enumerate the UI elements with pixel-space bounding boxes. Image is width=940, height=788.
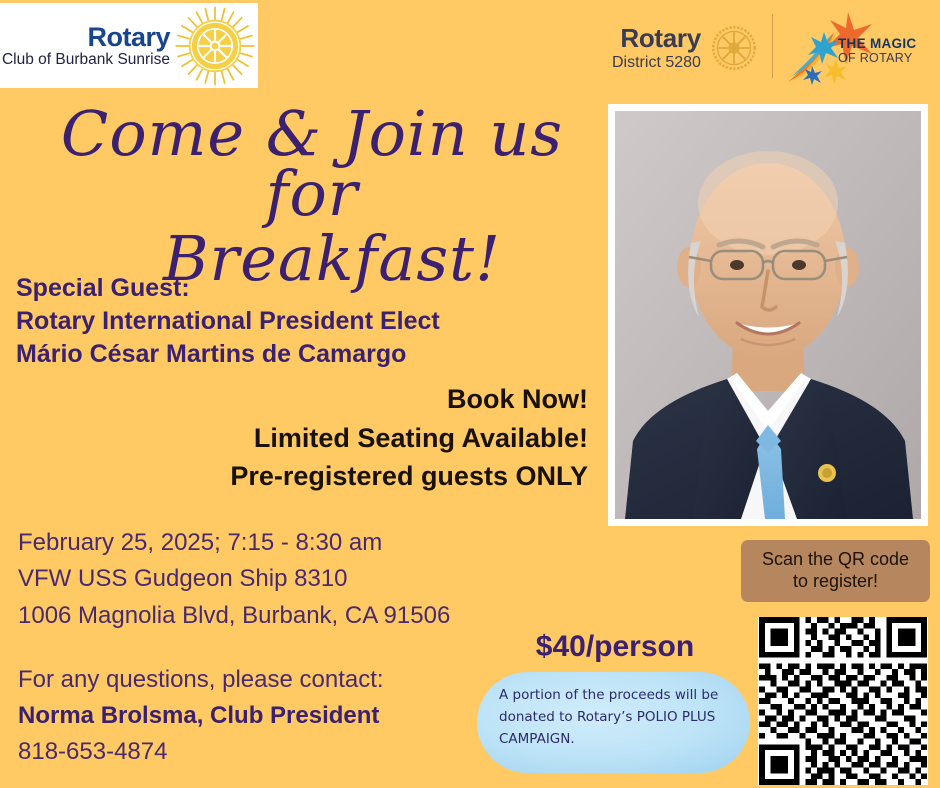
- special-guest-label: Special Guest:: [16, 272, 440, 305]
- contact-block: For any questions, please contact: Norma…: [18, 662, 384, 770]
- rotary-wheel-icon: [174, 5, 256, 87]
- district-number-label: District 5280: [612, 54, 701, 72]
- special-guest-title: Rotary International President Elect: [16, 305, 440, 338]
- cta-pre-registered: Pre-registered guests ONLY: [180, 457, 588, 496]
- cta-limited-seating: Limited Seating Available!: [180, 419, 588, 458]
- club-brand-label: Rotary: [2, 23, 170, 51]
- contact-person: Norma Brolsma, Club President: [18, 698, 384, 734]
- district-brand-label: Rotary: [612, 24, 701, 53]
- scan-badge-line2: to register!: [762, 571, 909, 593]
- magic-line1: THE MAGIC: [838, 37, 916, 52]
- call-to-action-block: Book Now! Limited Seating Available! Pre…: [180, 380, 588, 496]
- price-label: $40/person: [470, 630, 760, 664]
- event-address: 1006 Magnolia Blvd, Burbank, CA 91506: [18, 598, 450, 634]
- avatar: [615, 111, 921, 519]
- special-guest-block: Special Guest: Rotary International Pres…: [16, 272, 440, 371]
- proceeds-note-text: A portion of the proceeds will be donate…: [499, 685, 728, 751]
- scan-badge-line1: Scan the QR code: [762, 549, 909, 571]
- event-details-block: February 25, 2025; 7:15 - 8:30 am VFW US…: [18, 525, 450, 634]
- district-logo-text: Rotary District 5280: [612, 24, 701, 71]
- headline-line-1: Come & Join us for: [14, 104, 610, 223]
- portrait-frame: [608, 104, 928, 526]
- magic-line2: OF ROTARY: [838, 52, 916, 66]
- club-name-label: Club of Burbank Sunrise: [2, 52, 170, 68]
- club-logo-text: Rotary Club of Burbank Sunrise: [2, 23, 174, 69]
- club-logo-box: Rotary Club of Burbank Sunrise: [0, 3, 258, 88]
- logo-divider: [772, 14, 773, 78]
- proceeds-note-pill: A portion of the proceeds will be donate…: [477, 672, 750, 773]
- page-title: Come & Join us for Breakfast!: [14, 104, 610, 289]
- district-logo: Rotary District 5280: [612, 24, 757, 71]
- event-datetime: February 25, 2025; 7:15 - 8:30 am: [18, 525, 450, 561]
- magic-of-rotary-logo: THE MAGIC OF ROTARY: [786, 10, 936, 85]
- contact-phone: 818-653-4874: [18, 734, 384, 770]
- cta-book-now: Book Now!: [180, 380, 588, 419]
- qr-code-icon[interactable]: [758, 617, 928, 785]
- rotary-wheel-icon: [711, 25, 757, 71]
- special-guest-name: Mário César Martins de Camargo: [16, 338, 440, 371]
- event-venue: VFW USS Gudgeon Ship 8310: [18, 561, 450, 597]
- contact-intro: For any questions, please contact:: [18, 662, 384, 698]
- flyer-canvas: Rotary Club of Burbank Sunrise: [0, 0, 940, 788]
- scan-qr-badge: Scan the QR code to register!: [741, 540, 930, 602]
- magic-of-rotary-text: THE MAGIC OF ROTARY: [838, 37, 916, 65]
